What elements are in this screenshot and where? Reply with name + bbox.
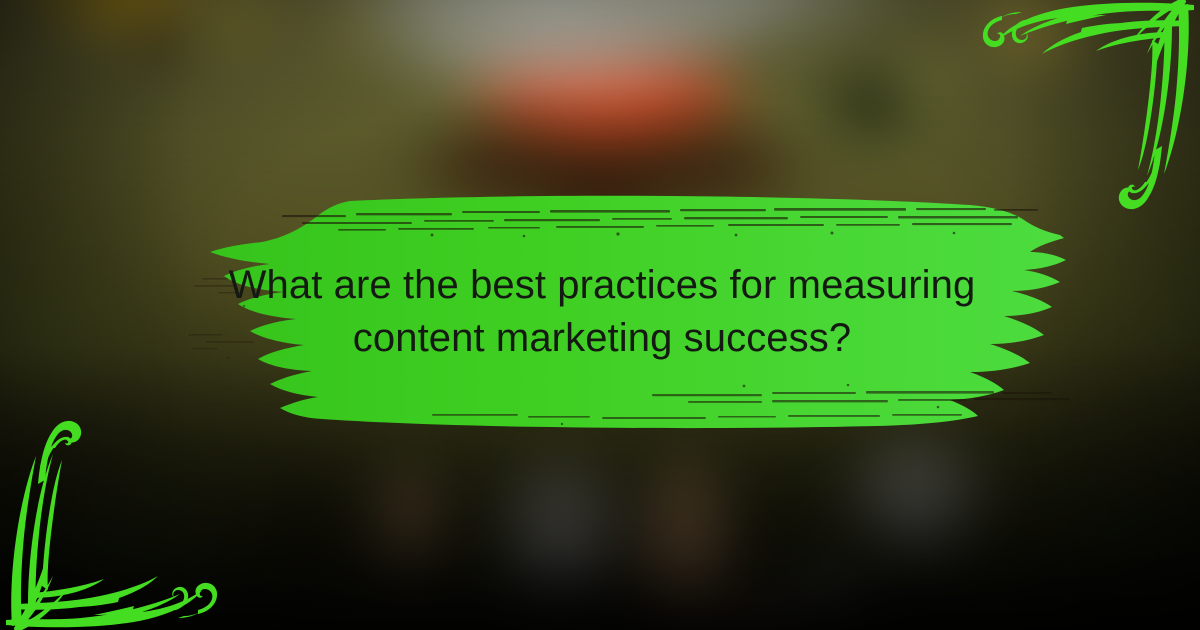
quote-card: What are the best practices for measurin… <box>0 0 1200 630</box>
banner-text-line-2: content marketing success? <box>222 312 982 365</box>
brush-stroke-banner: What are the best practices for measurin… <box>132 186 1072 438</box>
banner-text-line-1: What are the best practices for measurin… <box>222 259 982 312</box>
banner-question-text: What are the best practices for measurin… <box>222 259 982 365</box>
